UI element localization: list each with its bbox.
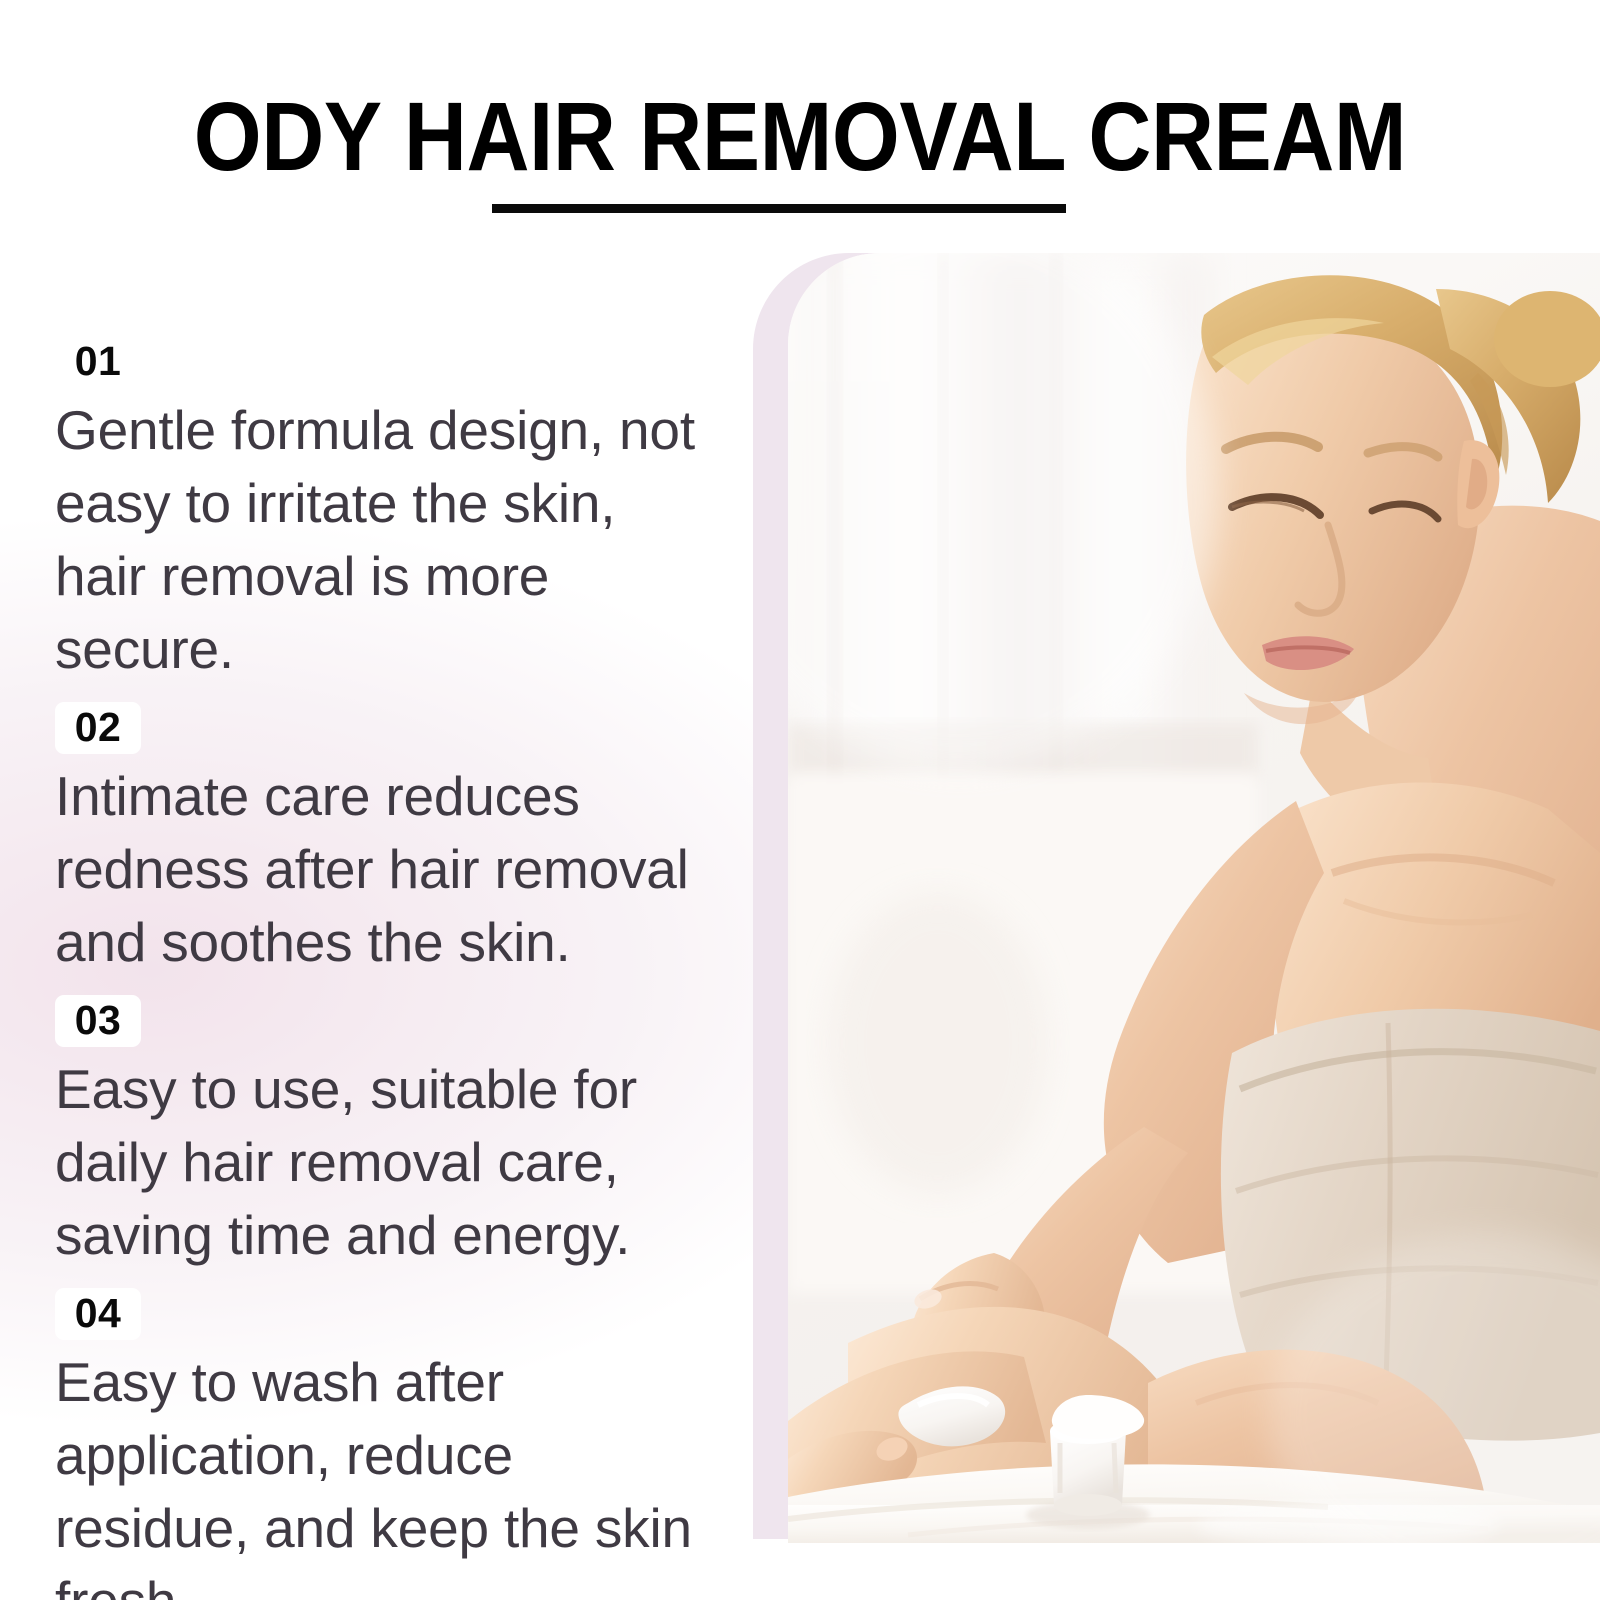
page-title-block: ODY HAIR REMOVAL CREAM [0,88,1600,185]
feature-description: Gentle formula design, not easy to irrit… [55,394,700,686]
feature-description: Easy to use, suitable for daily hair rem… [55,1053,700,1272]
feature-description: Intimate care reduces redness after hair… [55,760,700,979]
feature-number-badge: 01 [55,336,141,388]
feature-item-01: 01 Gentle formula design, not easy to ir… [55,336,715,686]
feature-description: Easy to wash after application, reduce r… [55,1346,700,1600]
feature-item-04: 04 Easy to wash after application, reduc… [55,1288,715,1600]
feature-number-badge: 03 [55,995,141,1047]
feature-item-03: 03 Easy to use, suitable for daily hair … [55,995,715,1272]
feature-number-badge: 04 [55,1288,141,1340]
product-infographic: ODY HAIR REMOVAL CREAM 01 Gentle formula… [0,0,1600,1600]
feature-item-02: 02 Intimate care reduces redness after h… [55,702,715,979]
product-lifestyle-photo [788,253,1600,1543]
photo-illustration [788,253,1600,1543]
title-underline-rule [492,204,1066,213]
feature-list: 01 Gentle formula design, not easy to ir… [55,336,715,1600]
page-title: ODY HAIR REMOVAL CREAM [80,88,1520,185]
feature-number-badge: 02 [55,702,141,754]
